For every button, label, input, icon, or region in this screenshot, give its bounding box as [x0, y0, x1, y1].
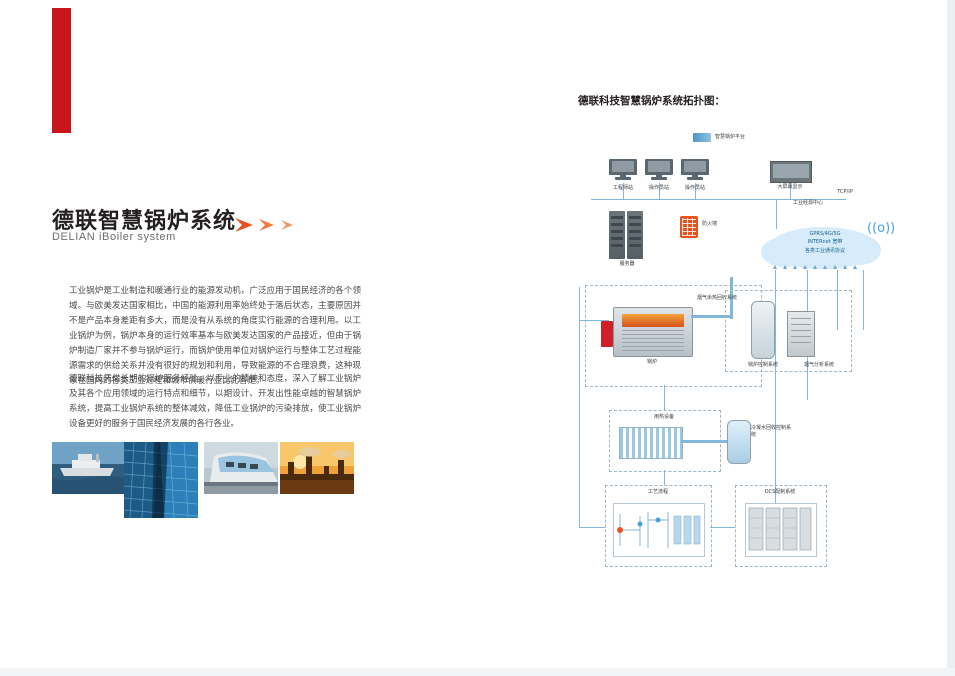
- server-icon-a: [609, 211, 625, 259]
- server-icon-b: [627, 211, 643, 259]
- operator-station2-label: 操作员站: [675, 185, 715, 192]
- process-flow-panel: [613, 503, 705, 557]
- server-label: 服务器: [606, 261, 648, 268]
- dcs-panel: [745, 503, 817, 557]
- heat-exchanger-icon: [619, 427, 683, 459]
- cold-return-label: 冷凝水回收控制系统: [751, 425, 791, 439]
- left-trunk-lower: [579, 487, 580, 527]
- operator-station1-label: 操作员站: [639, 185, 679, 192]
- dcs-feed-line: [710, 527, 735, 528]
- condensate-tank-icon: [727, 420, 751, 464]
- intro-paragraph-2: 德联科技凭借长期的锅炉服务经验，以专业的精神和态度，深入了解工业锅炉及其各个应用…: [52, 372, 361, 432]
- engineer-station-label: 工程师站: [603, 185, 643, 192]
- right-page-edge: [947, 0, 955, 676]
- process-flow-label: 工艺流程: [623, 489, 693, 496]
- firewall-label: 防火墙: [702, 221, 738, 228]
- factory-photo: [280, 442, 354, 494]
- industrial-center-label: 工业经源中心: [763, 200, 853, 207]
- page-root: 德联智慧锅炉系统 DELIAN iBoiler system 工业锅炉是工业制造…: [0, 0, 955, 676]
- cloud-line-2: INTERnet 宽带: [770, 239, 880, 247]
- platform-label: 智慧锅炉平台: [715, 134, 745, 141]
- condensate-pipe: [681, 440, 727, 443]
- engineer-station-icon: [609, 159, 637, 181]
- operator-station2-icon: [681, 159, 709, 181]
- boiler-to-heat-line: [664, 385, 665, 410]
- page-subtitle: DELIAN iBoiler system: [52, 231, 176, 243]
- heat-equipment-label: 用热设备: [629, 414, 699, 421]
- bottom-page-edge: [0, 668, 955, 676]
- process-feed-line: [579, 527, 605, 528]
- photo-strip: [52, 442, 352, 494]
- train-photo: [204, 442, 278, 494]
- control-zone-box: [725, 290, 852, 372]
- firewall-icon: [680, 216, 698, 238]
- heat-to-process-line: [664, 470, 665, 485]
- cloud-line-1: GPRS/4G/5G: [770, 231, 880, 239]
- boiler-label: 锅炉: [627, 359, 677, 366]
- red-accent-bar: [52, 8, 71, 133]
- wifi-icon: ((o)): [867, 221, 895, 236]
- ship-photo: [52, 442, 126, 494]
- cloud-line-3: 各类工业通讯协议: [770, 248, 880, 256]
- dcs-label: DCS配制系统: [747, 489, 813, 496]
- building-photo: [124, 442, 198, 518]
- tcpip-label: TCP/IP: [830, 189, 860, 196]
- topology-title: 德联科技智慧锅炉系统拓扑图：: [578, 93, 725, 108]
- boiler-icon: [613, 307, 693, 357]
- operator-station1-icon: [645, 159, 673, 181]
- arrows-decoration: [233, 214, 313, 236]
- big-screen-label: 大屏幕显示: [765, 184, 815, 191]
- platform-icon: [693, 133, 711, 142]
- topology-diagram: 智慧锅炉平台 工程师站 操作员站 操作员站 大屏幕显示 TCP/IP 工业经源中…: [575, 125, 905, 570]
- left-trunk-line: [579, 287, 580, 487]
- burner-icon: [601, 321, 613, 347]
- cloud-feed-4: [863, 270, 864, 330]
- big-screen-icon: [770, 161, 812, 183]
